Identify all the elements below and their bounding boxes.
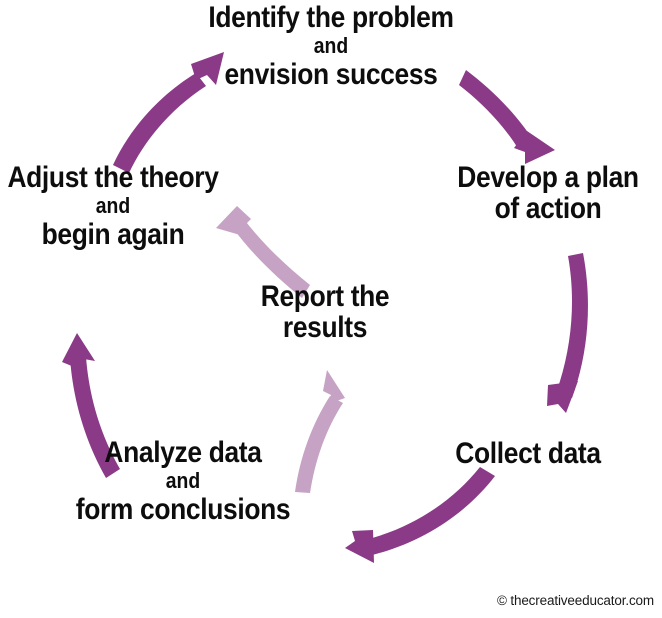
node-identify-main: Identify the problem bbox=[208, 2, 453, 33]
node-adjust-main: Adjust the theory bbox=[7, 162, 218, 193]
arrow-identify-to-develop bbox=[459, 70, 555, 164]
node-identify: Identify the problem and envision succes… bbox=[192, 2, 471, 91]
node-analyze: Analyze data and form conclusions bbox=[61, 437, 305, 526]
diagram-canvas: Identify the problem and envision succes… bbox=[0, 0, 662, 618]
node-identify-connector: and bbox=[208, 33, 453, 59]
arrow-collect-to-analyze bbox=[345, 467, 495, 563]
node-collect: Collect data bbox=[445, 438, 610, 469]
node-report-main2: results bbox=[261, 312, 389, 344]
node-adjust-main2: begin again bbox=[7, 219, 218, 251]
arrow-develop-to-collect bbox=[547, 253, 588, 413]
node-develop-main2: of action bbox=[457, 193, 638, 225]
node-report-main: Report the bbox=[261, 281, 389, 312]
node-report: Report the results bbox=[252, 281, 398, 344]
node-identify-main2: envision success bbox=[208, 59, 453, 91]
copyright-notice: © thecreativeeducator.com bbox=[497, 593, 654, 608]
node-develop: Develop a plan of action bbox=[445, 162, 651, 225]
node-analyze-main: Analyze data bbox=[76, 437, 290, 468]
node-analyze-main2: form conclusions bbox=[76, 494, 290, 526]
node-analyze-connector: and bbox=[76, 468, 290, 494]
node-adjust: Adjust the theory and begin again bbox=[0, 162, 233, 251]
node-collect-main: Collect data bbox=[455, 438, 600, 469]
node-develop-main: Develop a plan bbox=[457, 162, 638, 193]
node-adjust-connector: and bbox=[7, 193, 218, 219]
